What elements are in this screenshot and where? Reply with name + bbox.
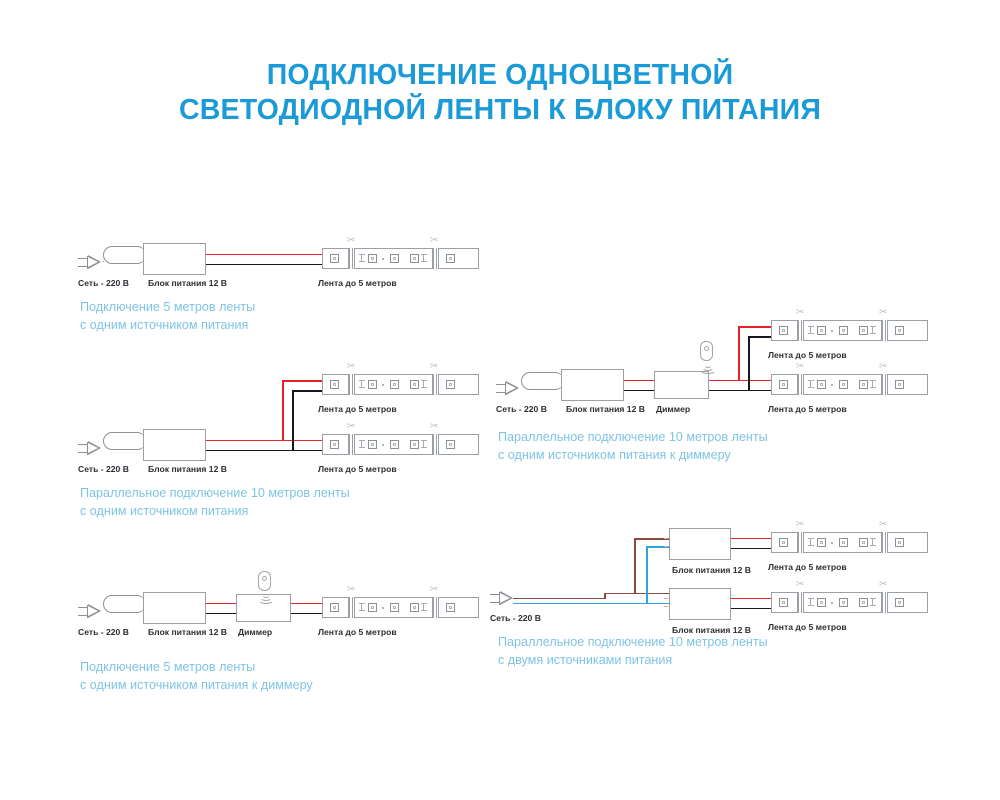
wire-neutral-blue-branch — [646, 546, 648, 603]
psu-box — [669, 588, 731, 620]
label-strip: Лента до 5 метров — [768, 622, 847, 633]
wire-negative — [731, 608, 771, 610]
scissors-cut-mark-icon: ✂ — [879, 520, 887, 530]
wire-line-brown — [604, 593, 606, 599]
scissors-cut-mark-icon: ✂ — [796, 520, 804, 530]
wire-neutral-blue — [513, 603, 605, 605]
wire-line-brown — [513, 598, 605, 600]
diagram-parallel-two-strips-two-psu: ✂ ✂ Лента до 5 метров Блок питания 12 В … — [0, 0, 1000, 700]
scissors-cut-mark-icon: ✂ — [879, 580, 887, 590]
wire-neutral-blue — [605, 603, 669, 605]
wire-negative — [731, 548, 771, 550]
diagram-canvas: ПОДКЛЮЧЕНИЕ ОДНОЦВЕТНОЙ СВЕТОДИОДНОЙ ЛЕН… — [0, 0, 1000, 800]
led-strip: ✂ ✂ — [771, 592, 928, 613]
scissors-cut-mark-icon: ✂ — [796, 580, 804, 590]
wire-line-brown — [605, 593, 669, 595]
label-mains: Сеть - 220 В — [490, 613, 541, 624]
label-strip: Лента до 5 метров — [768, 562, 847, 573]
led-strip: ✂ ✂ — [771, 532, 928, 553]
diagram-caption: Параллельное подключение 10 метров ленты… — [498, 634, 768, 669]
wire-positive — [731, 598, 771, 600]
label-psu: Блок питания 12 В — [672, 565, 751, 576]
psu-box — [669, 528, 731, 560]
wire-positive — [731, 538, 771, 540]
wire-line-brown-branch — [634, 538, 636, 593]
